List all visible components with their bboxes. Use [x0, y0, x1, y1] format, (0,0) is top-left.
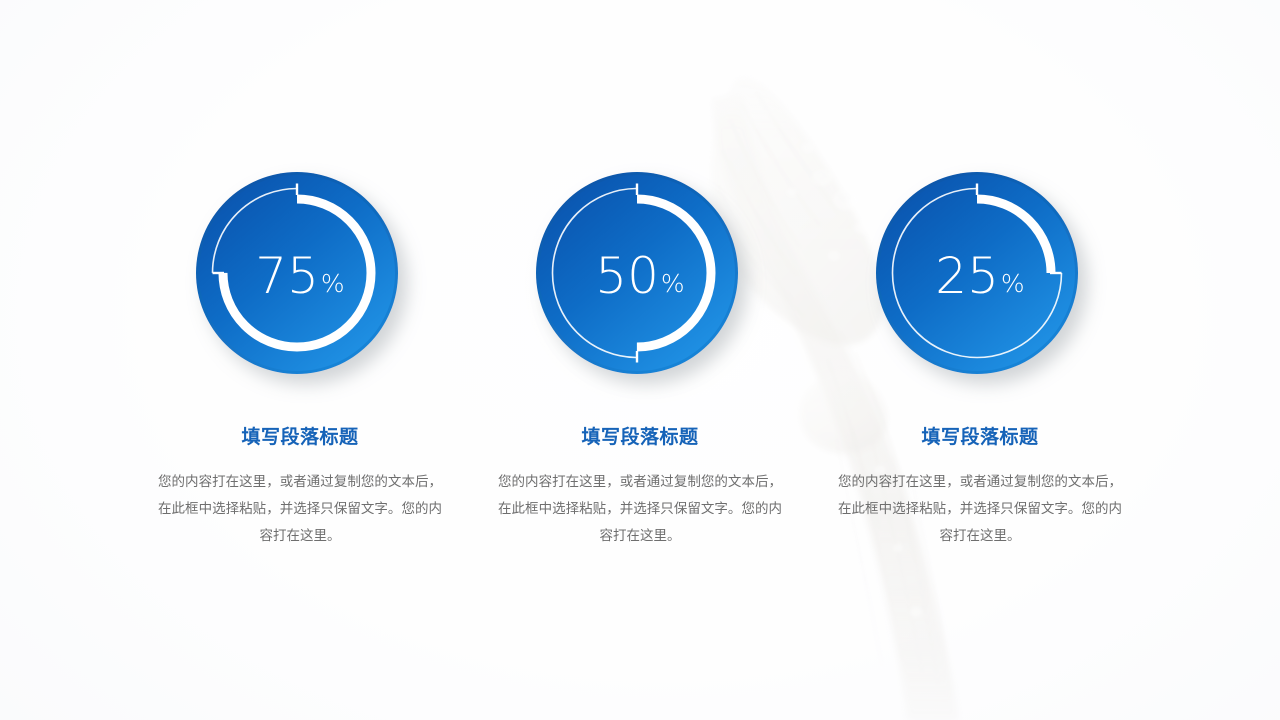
columns-container: 75% 填写段落标题 您的内容打在这里，或者通过复制您的文本后，在此框中选择粘贴…	[0, 0, 1280, 720]
donut-face	[199, 175, 395, 371]
caption-block-1: 填写段落标题 您的内容打在这里，或者通过复制您的文本后，在此框中选择粘贴，并选择…	[150, 427, 450, 549]
slide-canvas: 75% 填写段落标题 您的内容打在这里，或者通过复制您的文本后，在此框中选择粘贴…	[0, 0, 1280, 720]
stat-column-1: 75% 填写段落标题 您的内容打在这里，或者通过复制您的文本后，在此框中选择粘贴…	[130, 0, 470, 549]
donut-chart-50[interactable]: 50%	[534, 170, 746, 382]
donut-face	[539, 175, 735, 371]
caption-body-3: 您的内容打在这里，或者通过复制您的文本后，在此框中选择粘贴，并选择只保留文字。您…	[830, 468, 1130, 549]
caption-title-3: 填写段落标题	[830, 427, 1130, 450]
caption-block-2: 填写段落标题 您的内容打在这里，或者通过复制您的文本后，在此框中选择粘贴，并选择…	[490, 427, 790, 549]
caption-title-1: 填写段落标题	[150, 427, 450, 450]
stat-column-3: 25% 填写段落标题 您的内容打在这里，或者通过复制您的文本后，在此框中选择粘贴…	[810, 0, 1150, 549]
caption-block-3: 填写段落标题 您的内容打在这里，或者通过复制您的文本后，在此框中选择粘贴，并选择…	[830, 427, 1130, 549]
stat-column-2: 50% 填写段落标题 您的内容打在这里，或者通过复制您的文本后，在此框中选择粘贴…	[470, 0, 810, 549]
donut-face	[879, 175, 1075, 371]
caption-body-2: 您的内容打在这里，或者通过复制您的文本后，在此框中选择粘贴，并选择只保留文字。您…	[490, 468, 790, 549]
donut-chart-25[interactable]: 25%	[874, 170, 1086, 382]
caption-body-1: 您的内容打在这里，或者通过复制您的文本后，在此框中选择粘贴，并选择只保留文字。您…	[150, 468, 450, 549]
caption-title-2: 填写段落标题	[490, 427, 790, 450]
donut-chart-75[interactable]: 75%	[194, 170, 406, 382]
